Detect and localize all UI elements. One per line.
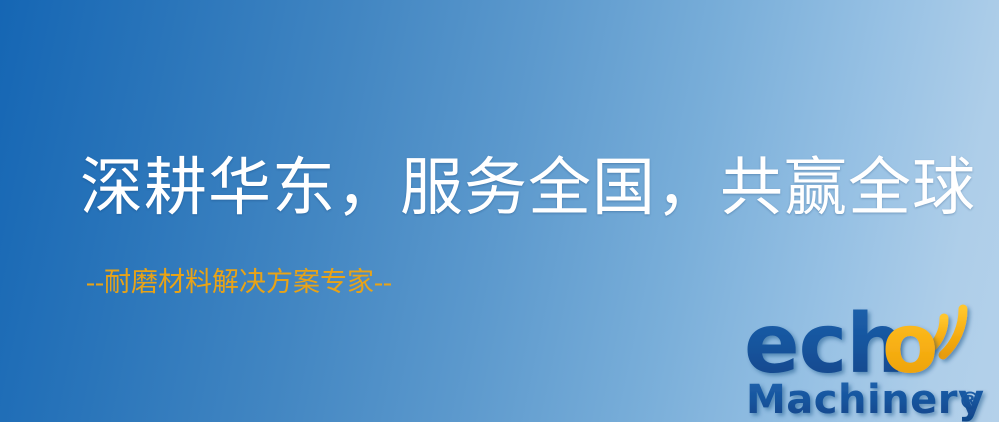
company-logo[interactable]: ech o Machinery ® <box>744 296 996 420</box>
logo-graphic: ech o Machinery ® <box>744 296 996 420</box>
hero-banner: 深耕华东，服务全国，共赢全球 --耐磨材料解决方案专家-- <box>0 0 999 422</box>
page-title: 深耕华东，服务全国，共赢全球 <box>80 152 976 224</box>
logo-word-machinery: Machinery <box>746 377 985 422</box>
registered-trademark-icon: ® <box>958 387 982 415</box>
page-subtitle: --耐磨材料解决方案专家-- <box>86 266 392 298</box>
